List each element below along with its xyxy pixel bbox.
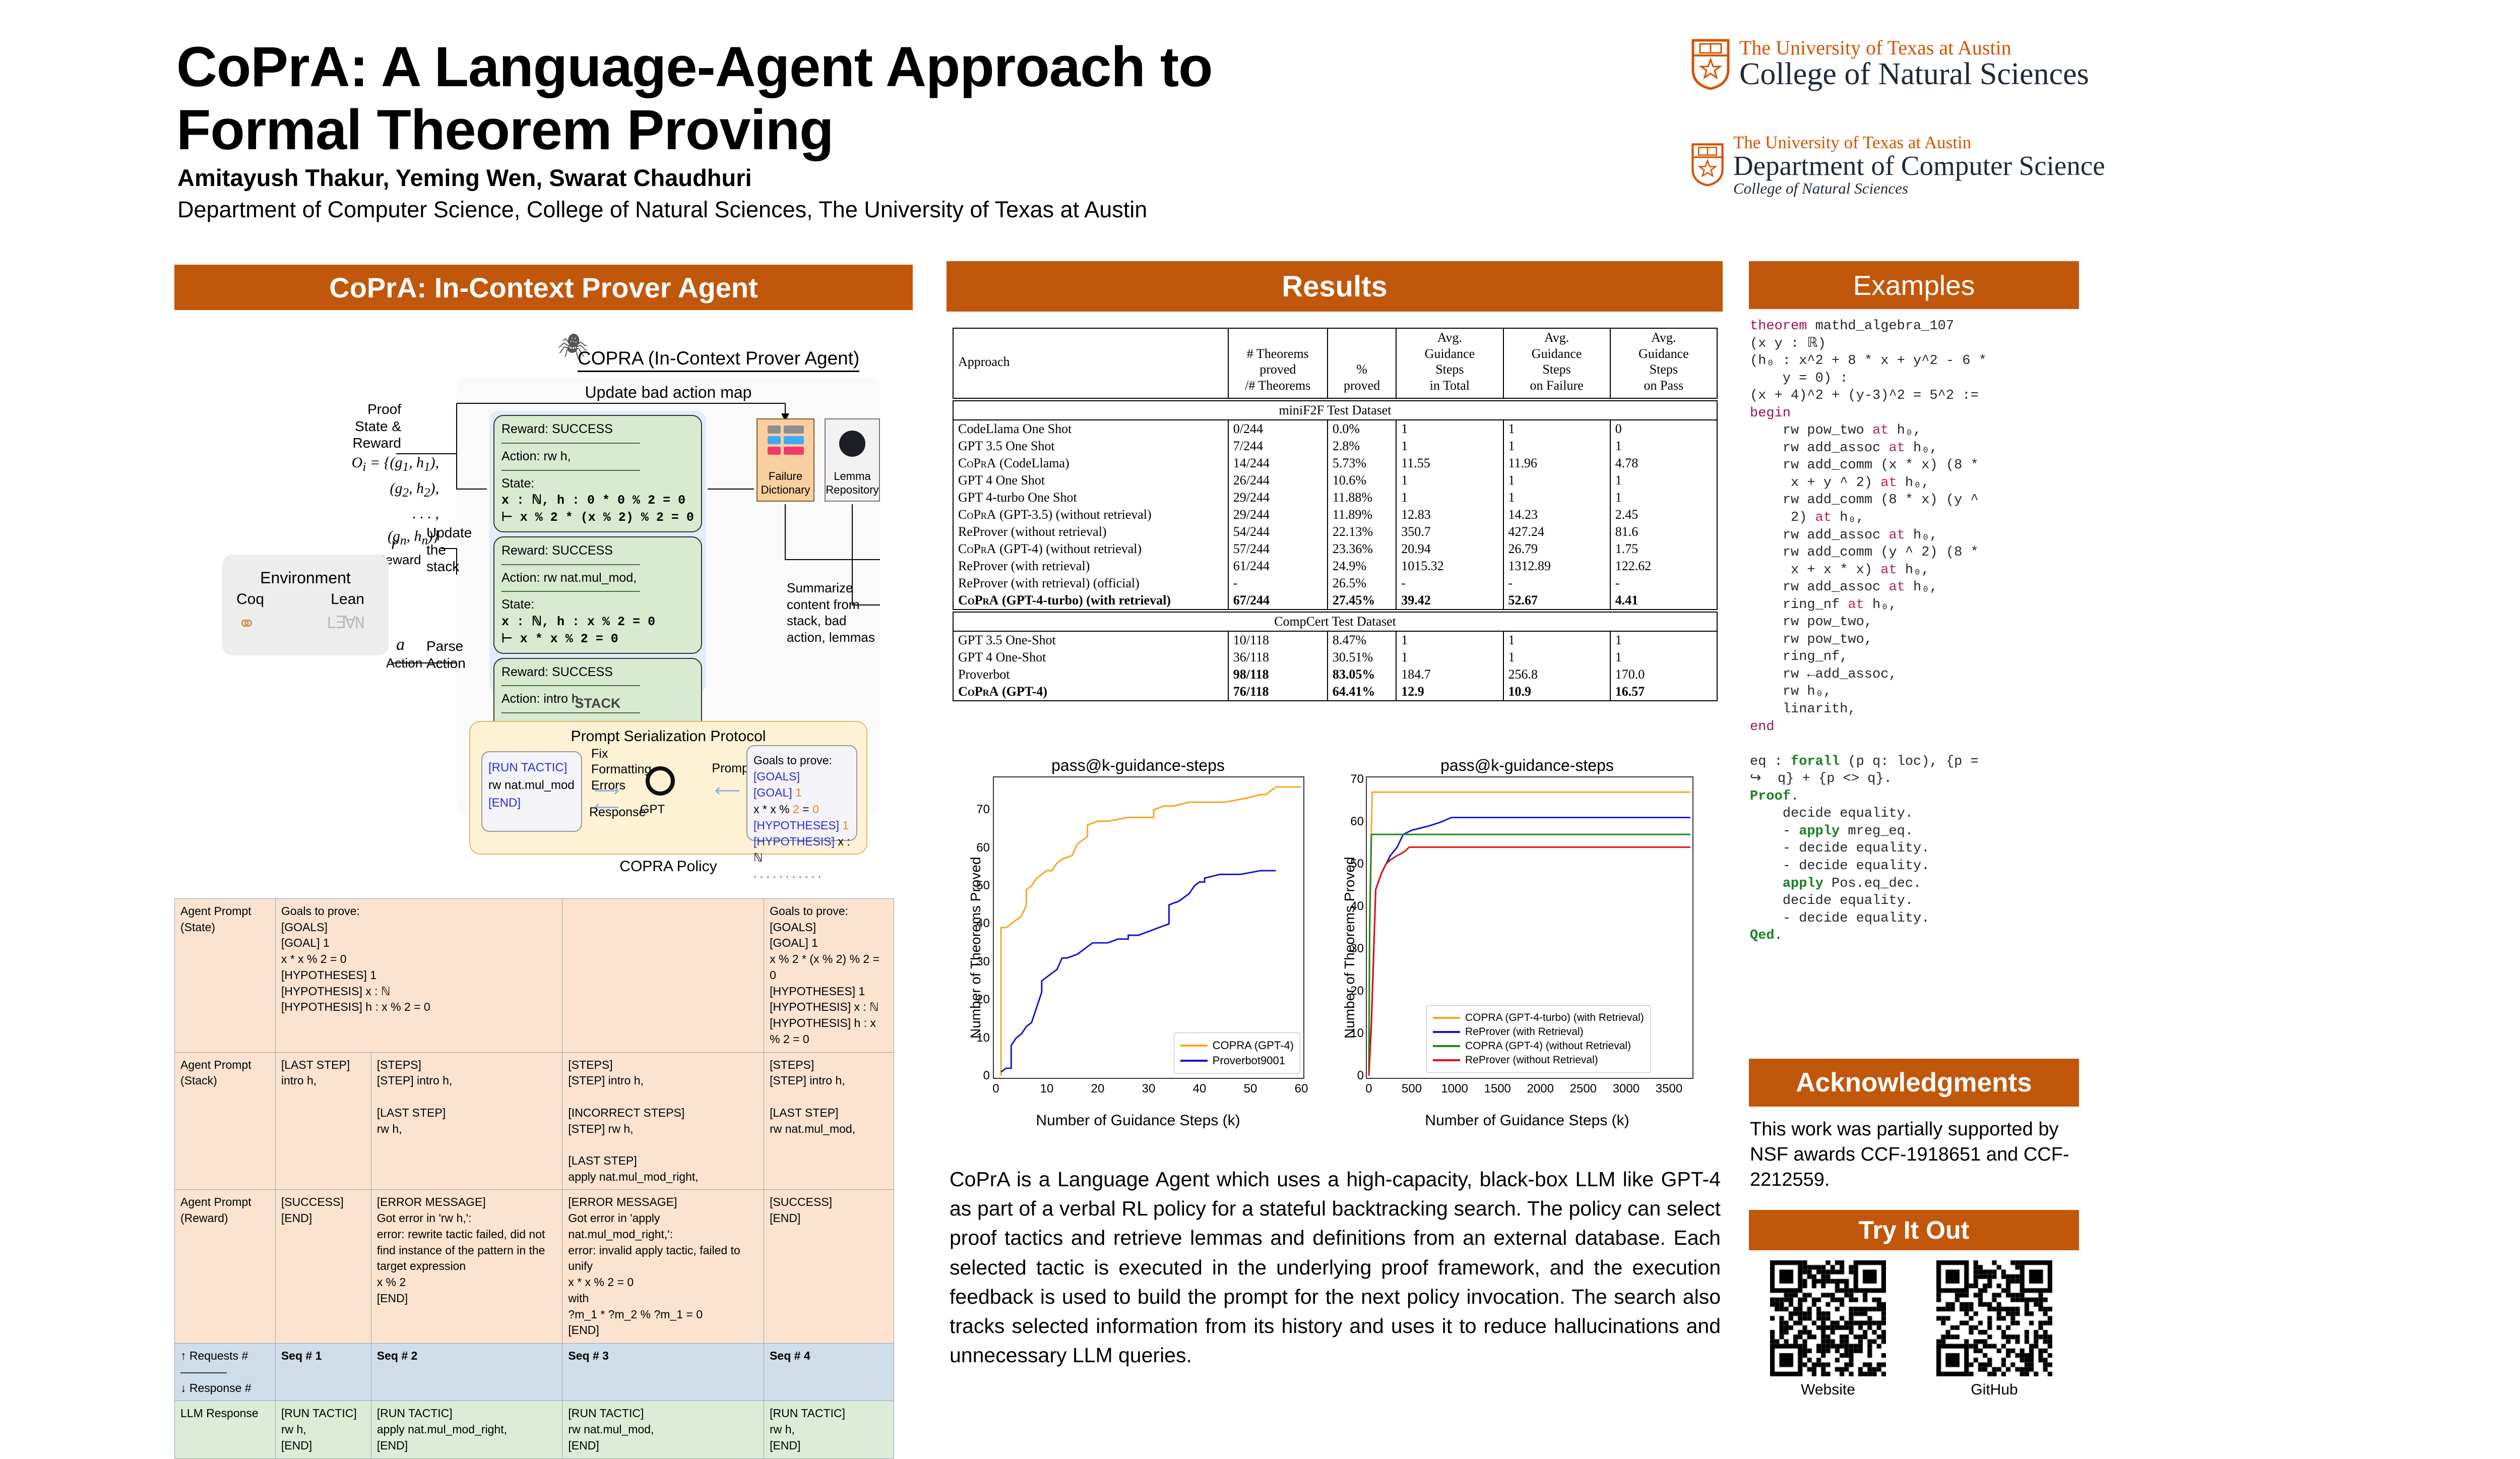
update-bad-action-map-label: Update bad action map bbox=[487, 383, 850, 402]
table-row: CoPrA (GPT-4) (without retrieval)57/2442… bbox=[953, 540, 1717, 558]
cell-value: 23.36% bbox=[1328, 540, 1396, 558]
y-tick-label: 40 bbox=[1350, 899, 1364, 914]
cell-seq-2: Seq # 2 bbox=[371, 1344, 562, 1401]
cell-llm-2: [RUN TACTIC] apply nat.mul_mod_right, [E… bbox=[371, 1401, 562, 1458]
table-row: GPT 3.5 One-Shot10/1188.47%111 bbox=[953, 631, 1717, 649]
row-label: Agent Prompt (State) bbox=[175, 899, 276, 1053]
code-segment-29: at bbox=[1848, 597, 1864, 613]
cell-value: 1 bbox=[1503, 438, 1610, 455]
x-tick-label: 0 bbox=[1365, 1082, 1372, 1096]
card-state-line-2: ⊢ x * x % 2 = 0 bbox=[501, 631, 694, 648]
cell-value: 427.24 bbox=[1503, 523, 1610, 540]
col-steps-pass: Avg.GuidanceStepson Pass bbox=[1610, 328, 1717, 398]
acknowledgments-text: This work was partially supported by NSF… bbox=[1750, 1117, 2077, 1192]
table-row: CodeLlama One Shot0/2440.0%110 bbox=[953, 420, 1717, 438]
cell-value: 1312.89 bbox=[1503, 558, 1610, 575]
section-header-acknowledgments: Acknowledgments bbox=[1749, 1059, 2079, 1107]
qr-code-github[interactable] bbox=[1936, 1260, 2052, 1376]
example-proof-code: theorem mathd_algebra_107 (x y : ℝ) (h₀ … bbox=[1750, 318, 2078, 1039]
chart-x-label: Number of Guidance Steps (k) bbox=[1331, 1112, 1724, 1129]
cell-value: 1 bbox=[1610, 472, 1717, 489]
legend-item: COPRA (GPT-4) bbox=[1180, 1039, 1294, 1052]
section-header-copra: CoPrA: In-Context Prover Agent bbox=[174, 265, 913, 310]
logo-unit-line: College of Natural Sciences bbox=[1739, 58, 2089, 91]
x-tick-label: 1000 bbox=[1441, 1082, 1468, 1096]
code-segment-1: mathd_algebra_107 bbox=[1807, 319, 1954, 334]
summary-paragraph: CoPrA is a Language Agent which uses a h… bbox=[950, 1165, 1721, 1370]
card-reward: Reward: SUCCESS bbox=[501, 664, 694, 681]
cell-state-4: Goals to prove: [GOALS] [GOAL] 1 x % 2 *… bbox=[764, 899, 894, 1053]
cell-value: 98/118 bbox=[1228, 666, 1328, 683]
legend-swatch bbox=[1433, 1031, 1460, 1033]
cell-value: - bbox=[1610, 575, 1717, 592]
agent-trace-table: Agent Prompt (State) Goals to prove: [GO… bbox=[174, 898, 894, 1459]
psp-left-line-2: rw nat.mul_mod bbox=[488, 777, 575, 795]
col-theorems-proved: # Theoremsproved/# Theorems bbox=[1228, 328, 1328, 398]
cell-value: - bbox=[1396, 575, 1503, 592]
openai-logo-icon bbox=[646, 766, 675, 796]
cell-approach: ReProver (without retrieval) bbox=[953, 523, 1228, 540]
coq-rooster-icon: ⚭ bbox=[237, 611, 256, 637]
cell-value: 29/244 bbox=[1228, 506, 1328, 523]
y-tick-label: 20 bbox=[1350, 984, 1364, 998]
chart-pass-at-k-minif2f: pass@k-guidance-steps Number of Theorems… bbox=[1331, 756, 1724, 1129]
cell-value: 2.8% bbox=[1328, 438, 1396, 455]
y-tick-label: 60 bbox=[1350, 815, 1364, 829]
card-reward: Reward: SUCCESS bbox=[501, 421, 694, 438]
code-segment-10: rw add_assoc bbox=[1750, 441, 1888, 456]
legend-label: COPRA (GPT-4-turbo) (with Retrieval) bbox=[1465, 1012, 1644, 1024]
chart-legend: COPRA (GPT-4-turbo) (with Retrieval) ReP… bbox=[1426, 1005, 1651, 1073]
plot-area: COPRA (GPT-4-turbo) (with Retrieval) ReP… bbox=[1366, 776, 1693, 1079]
y-tick-label: 40 bbox=[976, 917, 990, 931]
legend-swatch bbox=[1180, 1045, 1208, 1047]
cell-approach: CoPrA (GPT-4-turbo) (with retrieval) bbox=[953, 592, 1228, 610]
table-row: Agent Prompt (Stack) [LAST STEP] intro h… bbox=[175, 1052, 894, 1190]
y-tick-label: 10 bbox=[976, 1031, 990, 1045]
cell-value: 4.78 bbox=[1610, 455, 1717, 472]
cell-value: 0/244 bbox=[1228, 420, 1328, 438]
cell-value: 1 bbox=[1610, 649, 1717, 666]
cell-value: 11.89% bbox=[1328, 506, 1396, 523]
page-title: CoPrA: A Language-Agent Approach to Form… bbox=[176, 35, 1386, 162]
cell-value: 67/244 bbox=[1228, 592, 1328, 610]
legend-swatch bbox=[1433, 1059, 1460, 1061]
table-row: CoPrA (GPT-4-turbo) (with retrieval)67/2… bbox=[953, 592, 1717, 610]
action-label: Action bbox=[386, 655, 422, 671]
legend-label: Proverbot9001 bbox=[1213, 1054, 1285, 1067]
code-segment-32: end bbox=[1750, 719, 1775, 735]
cell-value: 1 bbox=[1396, 420, 1503, 438]
table-group-header: miniF2F Test Dataset bbox=[953, 401, 1717, 420]
col-approach: Approach bbox=[953, 328, 1228, 398]
legend-label: ReProver (with Retrieval) bbox=[1465, 1026, 1584, 1038]
gpt-label: GPT bbox=[640, 803, 665, 817]
results-table-body: miniF2F Test DatasetCodeLlama One Shot0/… bbox=[953, 398, 1717, 701]
cell-approach: Proverbot bbox=[953, 666, 1228, 683]
code-segment-2: (x y : ℝ) bbox=[1750, 336, 1826, 351]
cell-approach: CoPrA (GPT-4) bbox=[953, 683, 1228, 701]
summarize-label: Summarize content from stack, bad action… bbox=[787, 580, 885, 645]
psp-right-line-3: [GOAL] 1 bbox=[753, 784, 850, 801]
code-segment-43: apply bbox=[1783, 876, 1823, 891]
x-tick-label: 0 bbox=[992, 1082, 999, 1096]
cell-value: 1 bbox=[1610, 438, 1717, 455]
cell-value: - bbox=[1503, 575, 1610, 592]
code-segment-27: h₀, bbox=[1905, 580, 1938, 595]
github-icon bbox=[839, 431, 865, 457]
cell-value: 122.62 bbox=[1610, 558, 1717, 575]
table-row: CoPrA (GPT-3.5) (without retrieval)29/24… bbox=[953, 506, 1717, 523]
legend-swatch bbox=[1433, 1045, 1460, 1047]
y-tick-label: 70 bbox=[976, 803, 990, 817]
cell-value: 52.67 bbox=[1503, 592, 1610, 610]
x-tick-label: 40 bbox=[1193, 1082, 1207, 1096]
divider bbox=[501, 443, 640, 444]
table-row: GPT 3.5 One Shot7/2442.8%111 bbox=[953, 438, 1717, 455]
code-segment-13: rw add_comm (x * x) (8 * x + y ^ 2) bbox=[1750, 458, 1979, 491]
code-segment-14: at bbox=[1880, 475, 1897, 491]
logo-subunit-line: College of Natural Sciences bbox=[1733, 180, 2105, 196]
cell-seq-3: Seq # 3 bbox=[562, 1344, 764, 1401]
col-steps-total: Avg.GuidanceStepsin Total bbox=[1396, 328, 1503, 398]
table-row: CoPrA (GPT-4)76/11864.41%12.910.916.57 bbox=[953, 683, 1717, 701]
code-segment-40: apply bbox=[1799, 824, 1840, 839]
x-tick-label: 60 bbox=[1295, 1082, 1308, 1096]
psp-right-line-5: [HYPOTHESES] 1 bbox=[753, 817, 850, 833]
code-segment-12: h₀, bbox=[1905, 441, 1938, 456]
chart-title: pass@k-guidance-steps bbox=[1331, 756, 1724, 775]
legend-swatch bbox=[1180, 1060, 1208, 1062]
psp-prompt-box: Goals to prove: [GOALS] [GOAL] 1 x * x %… bbox=[746, 745, 857, 841]
code-segment-20: at bbox=[1888, 528, 1905, 543]
cell-seq-4: Seq # 4 bbox=[764, 1344, 894, 1401]
cell-value: 64.41% bbox=[1328, 683, 1396, 701]
cell-stack-4: [STEPS] [STEP] intro h, [LAST STEP] rw n… bbox=[764, 1052, 894, 1190]
code-segment-17: at bbox=[1815, 510, 1832, 525]
code-segment-22: rw add_comm (y ^ 2) (8 * x + x * x) bbox=[1750, 545, 1979, 578]
coq-label: Coq bbox=[236, 591, 264, 608]
x-tick-label: 2500 bbox=[1570, 1082, 1597, 1096]
y-tick-label: 30 bbox=[976, 955, 990, 969]
author-list: Amitayush Thakur, Yeming Wen, Swarat Cha… bbox=[177, 164, 752, 192]
cell-value: 30.51% bbox=[1328, 649, 1396, 666]
cell-value: 26.79 bbox=[1503, 540, 1610, 558]
cell-value: 10.6% bbox=[1328, 472, 1396, 489]
failure-dictionary-box: Failure Dictionary bbox=[757, 418, 814, 502]
cell-value: 1 bbox=[1503, 631, 1610, 649]
table-row: CoPrA (CodeLlama)14/2445.73%11.5511.964.… bbox=[953, 455, 1717, 472]
environment-title: Environment bbox=[222, 569, 389, 587]
x-tick-label: 50 bbox=[1244, 1082, 1257, 1096]
logo-university-line: The University of Texas at Austin bbox=[1733, 134, 2105, 151]
cell-reward-3: [ERROR MESSAGE] Got error in 'apply nat.… bbox=[562, 1190, 764, 1344]
psp-right-line-1: Goals to prove: bbox=[753, 752, 850, 768]
code-segment-8: at bbox=[1872, 423, 1888, 438]
y-tick-label: 0 bbox=[983, 1069, 990, 1083]
card-state-line-1: x : ℕ, h : x % 2 = 0 bbox=[501, 614, 694, 631]
cell-approach: ReProver (with retrieval) bbox=[953, 558, 1228, 575]
divider bbox=[501, 564, 640, 565]
cell-value: 1 bbox=[1396, 472, 1503, 489]
code-segment-15: h₀, bbox=[1897, 475, 1930, 491]
cell-stack-1: [LAST STEP] intro h, bbox=[275, 1052, 371, 1190]
cell-value: 4.41 bbox=[1610, 592, 1717, 610]
cell-value: - bbox=[1228, 575, 1328, 592]
table-row: Agent Prompt (Reward) [SUCCESS] [END] [E… bbox=[175, 1190, 894, 1344]
group-label: miniF2F Test Dataset bbox=[953, 401, 1717, 420]
cell-llm-4: [RUN TACTIC] rw h, [END] bbox=[764, 1401, 894, 1458]
stack-card: Reward: SUCCESS Action: rw nat.mul_mod, … bbox=[493, 536, 702, 654]
divider bbox=[501, 591, 640, 592]
y-tick-label: 20 bbox=[976, 993, 990, 1007]
ut-austin-dcs-logo: The University of Texas at Austin Depart… bbox=[1691, 134, 2105, 196]
observation-equation: Oi = {(g1, h1),(g2, h2),. . . ,(gn, hn)} bbox=[316, 451, 439, 551]
ut-shield-icon bbox=[1691, 143, 1724, 187]
table-row: Agent Prompt (State) Goals to prove: [GO… bbox=[175, 899, 894, 1053]
update-the-stack-label: Update the stack bbox=[426, 524, 482, 575]
legend-item: ReProver (without Retrieval) bbox=[1433, 1054, 1644, 1066]
psp-left-line-3: [END] bbox=[488, 795, 575, 812]
cell-llm-3: [RUN TACTIC] rw nat.mul_mod, [END] bbox=[562, 1401, 764, 1458]
cell-reward-2: [ERROR MESSAGE] Got error in 'rw h,': er… bbox=[371, 1190, 562, 1344]
cell-value: 1 bbox=[1396, 438, 1503, 455]
code-segment-45: decide equality. - decide equality. bbox=[1750, 893, 1929, 926]
table-row: Proverbot98/11883.05%184.7256.8170.0 bbox=[953, 666, 1717, 683]
section-header-try-it-out: Try It Out bbox=[1749, 1210, 2079, 1250]
qr-code-website[interactable] bbox=[1770, 1260, 1886, 1376]
lean-logo-icon: L∃∀N bbox=[326, 613, 363, 634]
divider bbox=[501, 685, 640, 686]
cell-value: 57/244 bbox=[1228, 540, 1328, 558]
proof-state-reward-label: Proof State & Reward bbox=[341, 401, 401, 452]
chart-legend: COPRA (GPT-4) Proverbot9001 bbox=[1174, 1032, 1300, 1074]
cell-value: 11.88% bbox=[1328, 489, 1396, 506]
y-tick-label: 70 bbox=[1350, 772, 1364, 786]
cell-value: 1 bbox=[1396, 631, 1503, 649]
cell-value: 36/118 bbox=[1228, 649, 1328, 666]
x-tick-label: 30 bbox=[1142, 1082, 1156, 1096]
code-segment-41: mreg_eq. bbox=[1840, 824, 1913, 839]
cell-value: 170.0 bbox=[1610, 666, 1717, 683]
card-action: Action: rw nat.mul_mod, bbox=[501, 570, 694, 587]
logo-university-line: The University of Texas at Austin bbox=[1739, 38, 2089, 58]
cell-approach: CodeLlama One Shot bbox=[953, 420, 1228, 438]
x-tick-label: 3500 bbox=[1656, 1082, 1682, 1096]
affiliation-line: Department of Computer Science, College … bbox=[177, 197, 1147, 223]
code-segment-19: rw add_assoc bbox=[1750, 528, 1888, 543]
ut-shield-icon bbox=[1691, 38, 1730, 91]
cell-value: 26/244 bbox=[1228, 472, 1328, 489]
logo-unit-line: Department of Computer Science bbox=[1733, 151, 2105, 180]
arrow-left-icon: ⟵ bbox=[714, 780, 740, 801]
code-segment-7: rw pow_two bbox=[1750, 423, 1872, 438]
cell-value: 1 bbox=[1503, 649, 1610, 666]
table-group-header: CompCert Test Dataset bbox=[953, 612, 1717, 631]
stack-label: STACK bbox=[489, 696, 706, 711]
x-tick-label: 1500 bbox=[1484, 1082, 1510, 1096]
code-segment-26: at bbox=[1888, 580, 1905, 595]
code-segment-37: Proof bbox=[1750, 789, 1791, 804]
card-state-label: State: bbox=[501, 475, 694, 493]
qr-caption-github: GitHub bbox=[1936, 1381, 2052, 1399]
row-label: Agent Prompt (Stack) bbox=[175, 1052, 276, 1190]
cell-value: 83.05% bbox=[1328, 666, 1396, 683]
action-symbol: a bbox=[396, 635, 405, 654]
col-steps-failure: Avg.GuidanceStepson Failure bbox=[1503, 328, 1610, 398]
cell-value: 61/244 bbox=[1228, 558, 1328, 575]
cell-value: 184.7 bbox=[1396, 666, 1503, 683]
cell-value: 350.7 bbox=[1396, 523, 1503, 540]
table-row: GPT 4 One-Shot36/11830.51%111 bbox=[953, 649, 1717, 666]
code-segment-16: rw add_comm (8 * x) (y ^ 2) bbox=[1750, 493, 1979, 525]
code-segment-31: rw pow_two, rw pow_two, ring_nf, rw ←add… bbox=[1750, 615, 1897, 717]
y-tick-label: 10 bbox=[1350, 1026, 1364, 1041]
cell-value: 1 bbox=[1610, 489, 1717, 506]
y-tick-label: 30 bbox=[1350, 942, 1364, 956]
legend-item: Proverbot9001 bbox=[1180, 1054, 1294, 1067]
y-tick-label: 60 bbox=[976, 841, 990, 855]
response-label: Response bbox=[589, 805, 646, 820]
cell-value: 11.96 bbox=[1503, 455, 1610, 472]
cell-value: 1 bbox=[1396, 489, 1503, 506]
cell-value: 7/244 bbox=[1228, 438, 1328, 455]
card-state-line-2: ⊢ x % 2 * (x % 2) % 2 = 0 bbox=[501, 509, 694, 526]
divider bbox=[501, 712, 640, 713]
cell-value: 81.6 bbox=[1610, 523, 1717, 540]
cell-value: 8.47% bbox=[1328, 631, 1396, 649]
x-tick-label: 500 bbox=[1402, 1082, 1422, 1096]
reward-symbol: r bbox=[391, 534, 398, 554]
code-segment-47: . bbox=[1775, 928, 1783, 943]
cell-value: 1 bbox=[1503, 489, 1610, 506]
diagram-title: COPRA (In-Context Prover Agent) bbox=[578, 348, 859, 372]
legend-label: COPRA (GPT-4) (without Retrieval) bbox=[1465, 1040, 1631, 1052]
code-segment-11: at bbox=[1888, 441, 1905, 456]
group-label: CompCert Test Dataset bbox=[953, 612, 1717, 631]
cell-value: 10/118 bbox=[1228, 631, 1328, 649]
failure-dictionary-label: Failure Dictionary bbox=[758, 470, 813, 497]
y-tick-label: 50 bbox=[976, 879, 990, 893]
code-segment-4: (x + 4)^2 + (y-3)^2 = 5^2 := bbox=[1750, 388, 1979, 403]
cell-value: 11.55 bbox=[1396, 455, 1503, 472]
row-label: Agent Prompt (Reward) bbox=[175, 1190, 276, 1344]
cell-value: 1 bbox=[1610, 631, 1717, 649]
cell-value: 22.13% bbox=[1328, 523, 1396, 540]
cell-approach: CoPrA (CodeLlama) bbox=[953, 455, 1228, 472]
architecture-diagram: 🕷 COPRA (In-Context Prover Agent) Update… bbox=[174, 323, 913, 882]
cell-value: 27.45% bbox=[1328, 592, 1396, 610]
cell-value: 76/118 bbox=[1228, 683, 1328, 701]
code-segment-34: eq : bbox=[1750, 754, 1791, 769]
cell-value: 14/244 bbox=[1228, 455, 1328, 472]
cell-approach: GPT 4 One-Shot bbox=[953, 649, 1228, 666]
lean-label: Lean bbox=[331, 591, 364, 608]
section-header-results: Results bbox=[947, 261, 1723, 312]
code-segment-44: Pos.eq_dec. bbox=[1823, 876, 1921, 891]
proof-stack: Reward: SUCCESS Action: rw h, State: x :… bbox=[489, 411, 706, 693]
cell-value: 5.73% bbox=[1328, 455, 1396, 472]
cell-value: 16.57 bbox=[1610, 683, 1717, 701]
code-segment-35: forall bbox=[1791, 754, 1840, 769]
cell-value: 20.94 bbox=[1396, 540, 1503, 558]
cell-approach: CoPrA (GPT-3.5) (without retrieval) bbox=[953, 506, 1228, 523]
lemma-repository-box: Lemma Repository bbox=[825, 418, 880, 502]
cell-stack-2: [STEPS] [STEP] intro h, [LAST STEP] rw h… bbox=[371, 1052, 562, 1190]
card-reward: Reward: SUCCESS bbox=[501, 542, 694, 560]
copra-policy-label: COPRA Policy bbox=[469, 858, 867, 875]
table-row: ReProver (without retrieval)54/24422.13%… bbox=[953, 523, 1717, 540]
environment-box: Environment Coq Lean ⚭ L∃∀N bbox=[222, 555, 389, 655]
code-segment-3: (h₀ : x^2 + 8 * x + y^2 - 6 * y = 0) : bbox=[1750, 353, 1987, 386]
cell-approach: ReProver (with retrieval) (official) bbox=[953, 575, 1228, 592]
code-segment-46: Qed bbox=[1750, 928, 1775, 943]
chart-title: pass@k-guidance-steps bbox=[947, 756, 1330, 775]
cell-approach: GPT 4 One Shot bbox=[953, 472, 1228, 489]
code-segment-38: . bbox=[1791, 789, 1799, 804]
code-segment-9: h₀, bbox=[1888, 423, 1921, 438]
cell-value: 1 bbox=[1503, 472, 1610, 489]
cell-value: 14.23 bbox=[1503, 506, 1610, 523]
psp-right-line-2: [GOALS] bbox=[753, 768, 850, 784]
cell-value: 1 bbox=[1503, 420, 1610, 438]
cell-seq-1: Seq # 1 bbox=[275, 1344, 371, 1401]
psp-title: Prompt Serialization Protocol bbox=[470, 728, 866, 745]
x-tick-label: 10 bbox=[1040, 1082, 1054, 1096]
plot-area: COPRA (GPT-4) Proverbot9001 010203040506… bbox=[993, 776, 1304, 1079]
x-tick-label: 2000 bbox=[1527, 1082, 1554, 1096]
code-segment-5: begin bbox=[1750, 406, 1791, 421]
divider bbox=[501, 470, 640, 471]
cell-value: 0.0% bbox=[1328, 420, 1396, 438]
failure-dictionary-chips bbox=[758, 425, 813, 457]
chart-pass-at-k-compcert: pass@k-guidance-steps Number of Theorems… bbox=[947, 756, 1330, 1129]
qr-caption-website: Website bbox=[1770, 1381, 1886, 1399]
card-state-label: State: bbox=[501, 596, 694, 614]
legend-label: COPRA (GPT-4) bbox=[1213, 1039, 1294, 1052]
chart-x-label: Number of Guidance Steps (k) bbox=[947, 1112, 1330, 1129]
psp-right-line-4: x * x % 2 = 0 bbox=[753, 801, 850, 817]
table-header-row: Approach # Theoremsproved/# Theorems %pr… bbox=[953, 328, 1717, 398]
cell-value: 26.5% bbox=[1328, 575, 1396, 592]
ut-austin-cns-logo: The University of Texas at Austin Colleg… bbox=[1691, 38, 2089, 91]
code-segment-18: h₀, bbox=[1832, 510, 1864, 525]
psp-left-line-1: [RUN TACTIC] bbox=[488, 759, 575, 777]
card-action: Action: rw h, bbox=[501, 448, 694, 465]
legend-label: ReProver (without Retrieval) bbox=[1465, 1054, 1598, 1066]
cell-reward-4: [SUCCESS] [END] bbox=[764, 1190, 894, 1344]
results-table: Approach # Theoremsproved/# Theorems %pr… bbox=[953, 328, 1718, 701]
table-row: ReProver (with retrieval)61/24424.9%1015… bbox=[953, 558, 1717, 575]
cell-stack-3: [STEPS] [STEP] intro h, [INCORRECT STEPS… bbox=[562, 1052, 764, 1190]
table-row: GPT 4-turbo One Shot29/24411.88%111 bbox=[953, 489, 1717, 506]
cell-value: 24.9% bbox=[1328, 558, 1396, 575]
code-segment-24: h₀, bbox=[1897, 563, 1930, 578]
table-row: GPT 4 One Shot26/24410.6%111 bbox=[953, 472, 1717, 489]
legend-item: COPRA (GPT-4-turbo) (with Retrieval) bbox=[1433, 1012, 1644, 1024]
code-segment-23: at bbox=[1880, 563, 1897, 578]
cell-value: 12.83 bbox=[1396, 506, 1503, 523]
cell-approach: CoPrA (GPT-4) (without retrieval) bbox=[953, 540, 1228, 558]
code-segment-25: rw add_assoc bbox=[1750, 580, 1888, 595]
table-row: LLM Response [RUN TACTIC] rw h, [END] [R… bbox=[175, 1401, 894, 1458]
code-segment-28: ring_nf bbox=[1750, 597, 1848, 613]
poster-header: CoPrA: A Language-Agent Approach to Form… bbox=[0, 0, 2520, 252]
cell-value: 0 bbox=[1610, 420, 1717, 438]
cell-value: 10.9 bbox=[1503, 683, 1610, 701]
legend-swatch bbox=[1433, 1017, 1460, 1019]
code-segment-0: theorem bbox=[1750, 319, 1807, 334]
